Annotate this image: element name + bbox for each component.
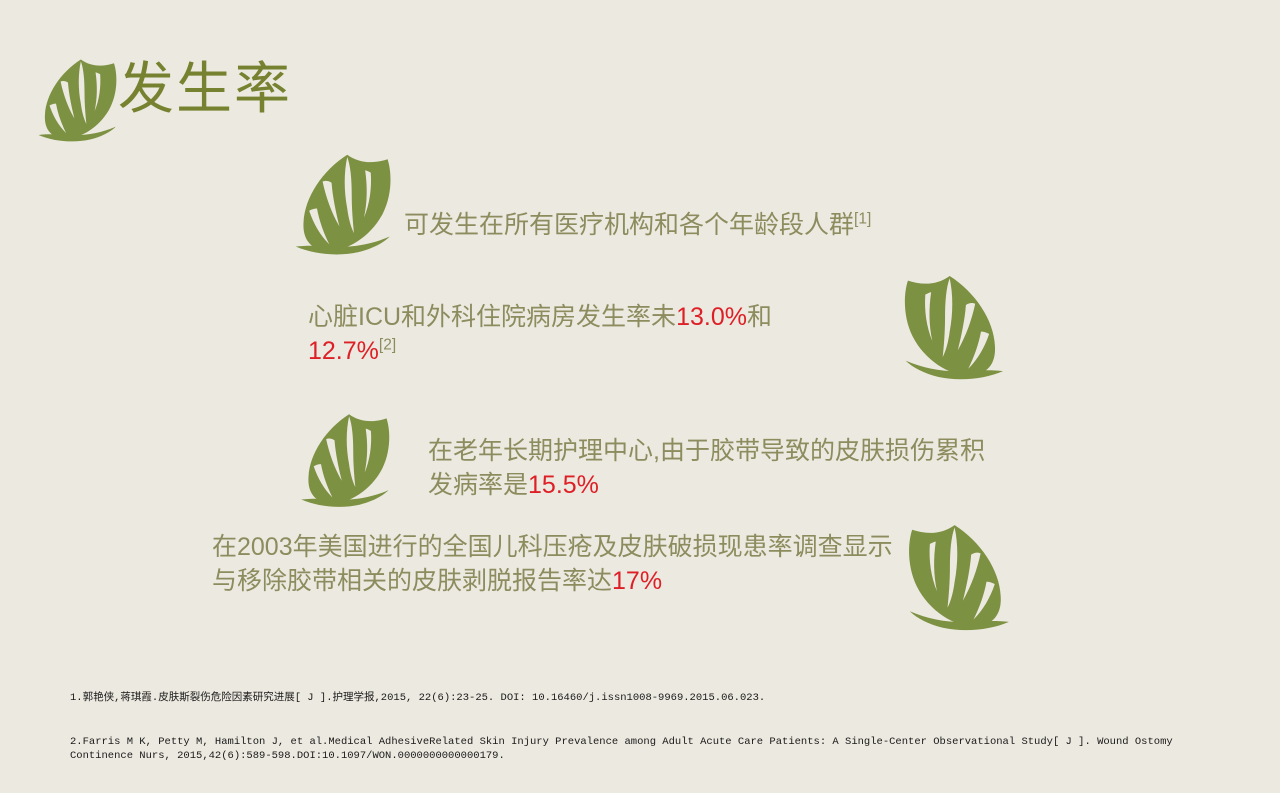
highlighted-value: 17%: [612, 567, 662, 595]
citation-marker: [2]: [379, 337, 396, 354]
citation-marker: [1]: [854, 211, 871, 228]
text-run: 和: [747, 303, 772, 331]
text-run: 可发生在所有医疗机构和各个年龄段人群: [404, 211, 854, 239]
highlighted-value: 13.0%: [676, 303, 747, 331]
text-run: 在老年长期护理中心,由于胶带导致的皮肤损伤: [428, 437, 935, 465]
bullet-text-4: 在2003年美国进行的全国儿科压疮及皮肤破损现患率调查显示与移除胶带相关的皮肤剥…: [212, 530, 902, 598]
reference-line-2: 2.Farris M K, Petty M, Hamilton J, et al…: [70, 735, 1190, 764]
page-title: 发生率: [118, 58, 292, 120]
leaf-icon: [894, 268, 1010, 386]
reference-line-1: 1.郭艳侠,蒋琪霞.皮肤斯裂伤危险因素研究进展[ J ].护理学报,2015, …: [70, 691, 1190, 706]
text-run: 心脏ICU和外科住院病房发生率未: [308, 303, 676, 331]
slide-canvas: 发生率 可发生在所有医疗机构和各个年龄段人群[1] 心脏ICU和外科住院病房发生…: [0, 0, 1280, 720]
leaf-icon: [288, 408, 406, 512]
leaf-icon: [898, 518, 1016, 636]
bullet-text-3: 在老年长期护理中心,由于胶带导致的皮肤损伤累积发病率是15.5%: [428, 434, 998, 502]
references-footnote: 1.郭艳侠,蒋琪霞.皮肤斯裂伤危险因素研究进展[ J ].护理学报,2015, …: [70, 662, 1190, 793]
text-run: 在2003年美国进行的全国儿科压疮及皮肤破损现: [212, 533, 743, 561]
leaf-icon: [286, 148, 404, 260]
bullet-text-1: 可发生在所有医疗机构和各个年龄段人群[1]: [404, 208, 944, 242]
highlighted-value: 15.5%: [528, 471, 599, 499]
highlighted-value: 12.7%: [308, 337, 379, 365]
bullet-text-2: 心脏ICU和外科住院病房发生率未13.0%和12.7%[2]: [308, 300, 828, 368]
leaf-icon: [33, 54, 125, 146]
